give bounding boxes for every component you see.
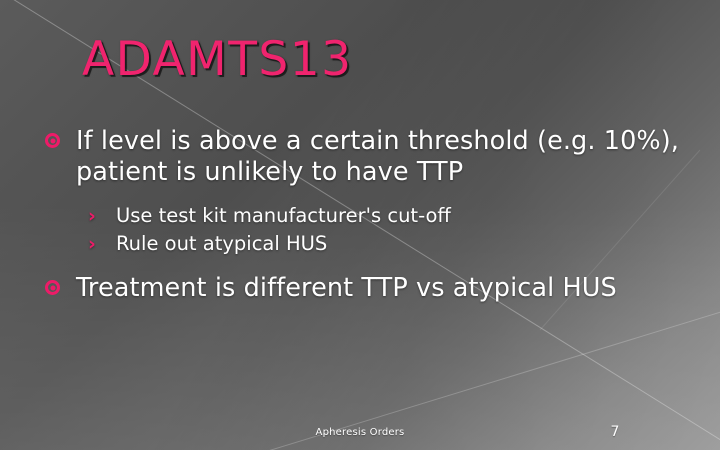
- slide-body: If level is above a certain threshold (e…: [44, 126, 694, 304]
- chevron-bullet-icon: ›: [88, 202, 96, 230]
- bullet-item-level1: If level is above a certain threshold (e…: [44, 126, 694, 188]
- bullet-text: If level is above a certain threshold (e…: [76, 126, 679, 187]
- spacer: [44, 258, 694, 273]
- slide-title: ADAMTS13: [82, 32, 353, 87]
- target-bullet-icon: [45, 133, 60, 148]
- bullet-item-level2: › Use test kit manufacturer's cut-off: [86, 202, 694, 230]
- bullet-item-level2: › Rule out atypical HUS: [86, 230, 694, 258]
- bullet-text: Rule out atypical HUS: [116, 232, 327, 255]
- slide-canvas: ADAMTS13 If level is above a certain thr…: [0, 0, 720, 450]
- bullet-text: Treatment is different TTP vs atypical H…: [76, 273, 617, 303]
- target-bullet-icon: [45, 280, 60, 295]
- spacer: [44, 188, 694, 202]
- page-number: 7: [590, 424, 640, 440]
- bullet-text: Use test kit manufacturer's cut-off: [116, 204, 451, 227]
- bullet-item-level1: Treatment is different TTP vs atypical H…: [44, 273, 694, 304]
- chevron-bullet-icon: ›: [88, 230, 96, 258]
